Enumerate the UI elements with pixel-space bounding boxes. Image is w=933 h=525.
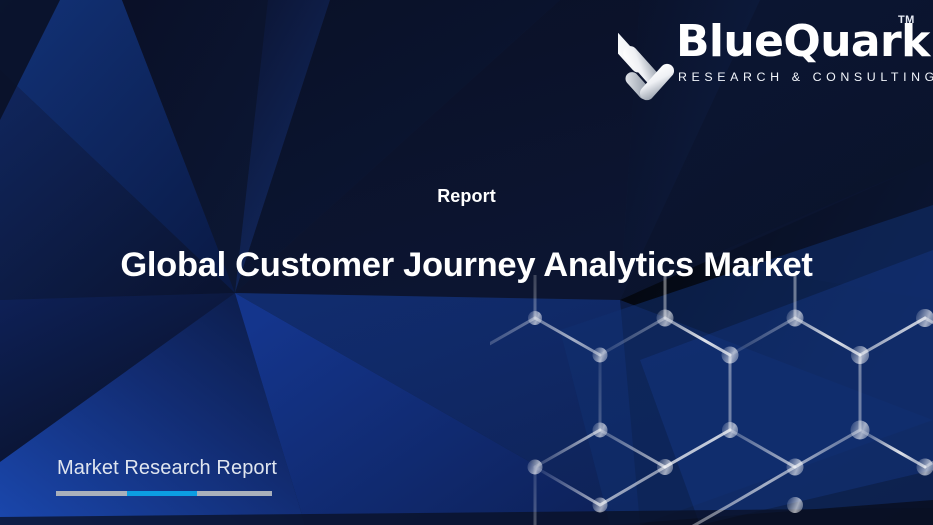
brand-wordmark: BlueQuark RESEARCH & CONSULTING (676, 16, 920, 85)
footer-label: Market Research Report (57, 457, 277, 480)
accent-rule (56, 491, 272, 496)
page-title: Global Customer Journey Analytics Market (0, 242, 933, 288)
trademark-symbol: TM (898, 14, 915, 26)
accent-rule-segment-2 (127, 491, 197, 496)
report-kicker: Report (0, 186, 933, 207)
accent-rule-segment-3 (197, 491, 272, 496)
accent-rule-segment-1 (56, 491, 127, 496)
brand-name: BlueQuark (676, 16, 920, 68)
report-cover-page: BlueQuark RESEARCH & CONSULTING TM Repor… (0, 0, 933, 525)
brand-tagline: RESEARCH & CONSULTING (676, 69, 920, 85)
brand-logo: BlueQuark RESEARCH & CONSULTING (618, 16, 918, 108)
bluequark-ribbon-icon (618, 20, 680, 104)
